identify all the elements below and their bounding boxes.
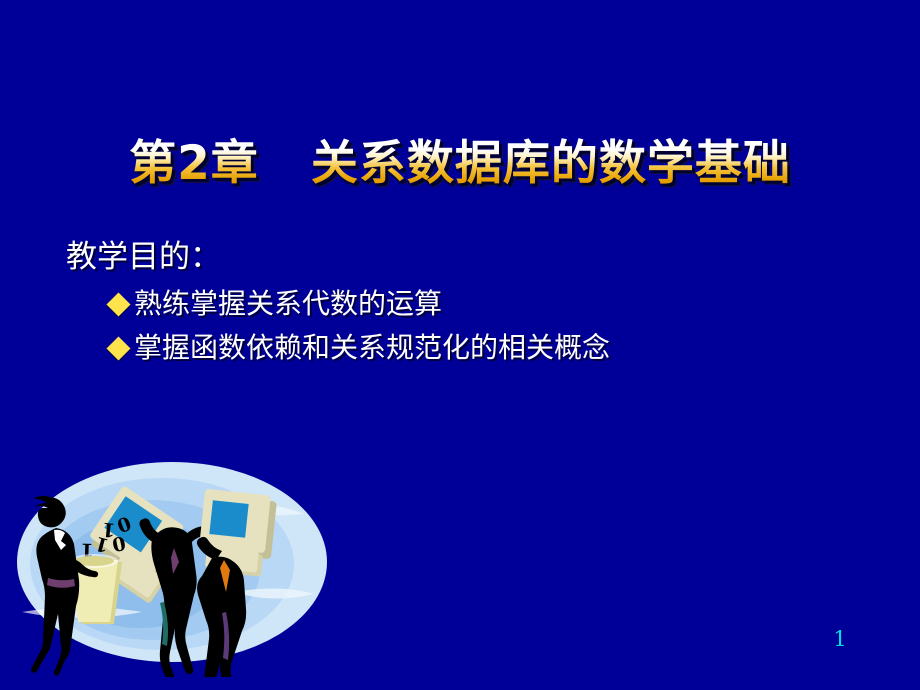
diamond-bullet-icon	[106, 336, 130, 360]
list-item-label: 掌握函数依赖和关系规范化的相关概念	[134, 330, 610, 366]
slide-title: 第2章 关系数据库的数学基础	[0, 133, 920, 195]
list-item: 掌握函数依赖和关系规范化的相关概念	[66, 328, 846, 368]
diamond-bullet-icon	[106, 292, 130, 316]
page-number: 1	[820, 626, 860, 652]
clipart-illustration: 1 0 1 0 1 0 0 1 0	[12, 452, 342, 677]
list-item: 熟练掌握关系代数的运算	[66, 284, 846, 324]
teaching-objective-label: 教学目的：	[66, 236, 846, 278]
slide-body: 教学目的： 熟练掌握关系代数的运算 掌握函数依赖和关系规范化的相关概念	[66, 236, 846, 368]
presentation-slide: 第2章 关系数据库的数学基础 第2章 关系数据库的数学基础 教学目的： 熟练掌握…	[0, 0, 920, 690]
list-item-label: 熟练掌握关系代数的运算	[134, 286, 442, 322]
objective-bullet-list: 熟练掌握关系代数的运算 掌握函数依赖和关系规范化的相关概念	[66, 284, 846, 368]
